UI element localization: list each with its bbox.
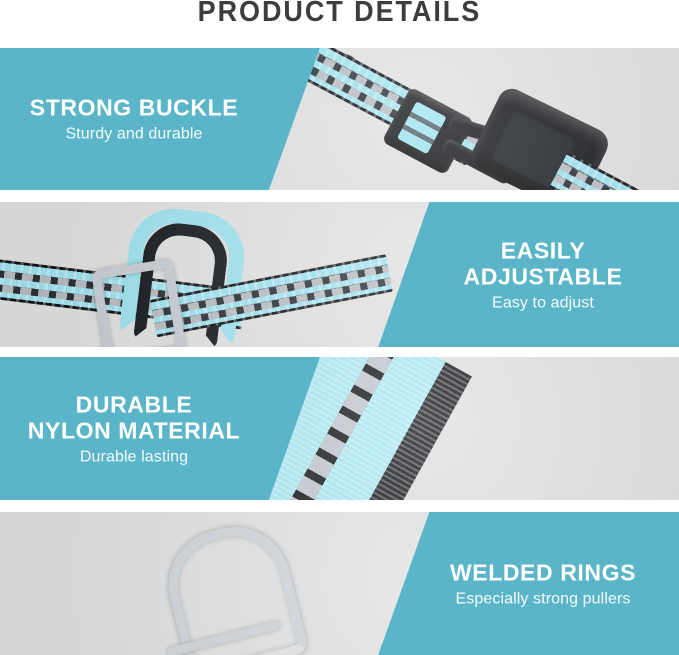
- feature-panel-durable-nylon-material: DURABLE NYLON MATERIAL Durable lasting: [0, 357, 679, 500]
- feature-panel-welded-rings: WELDED RINGS Especially strong pullers: [0, 512, 679, 655]
- webbing-strap-lower: [549, 152, 679, 190]
- feature-panel-easily-adjustable: EASILY ADJUSTABLE Easy to adjust: [0, 202, 679, 347]
- feature-panel-strong-buckle: STRONG BUCKLE Sturdy and durable: [0, 48, 679, 190]
- metal-slider-adjuster: [91, 258, 187, 347]
- teal-wedge: [0, 48, 320, 190]
- product-details-infographic: PRODUCT DETAILS STRONG BUCKLE St: [0, 0, 679, 655]
- header: PRODUCT DETAILS: [0, 0, 679, 46]
- teal-wedge: [0, 357, 320, 500]
- page-title: PRODUCT DETAILS: [198, 0, 482, 27]
